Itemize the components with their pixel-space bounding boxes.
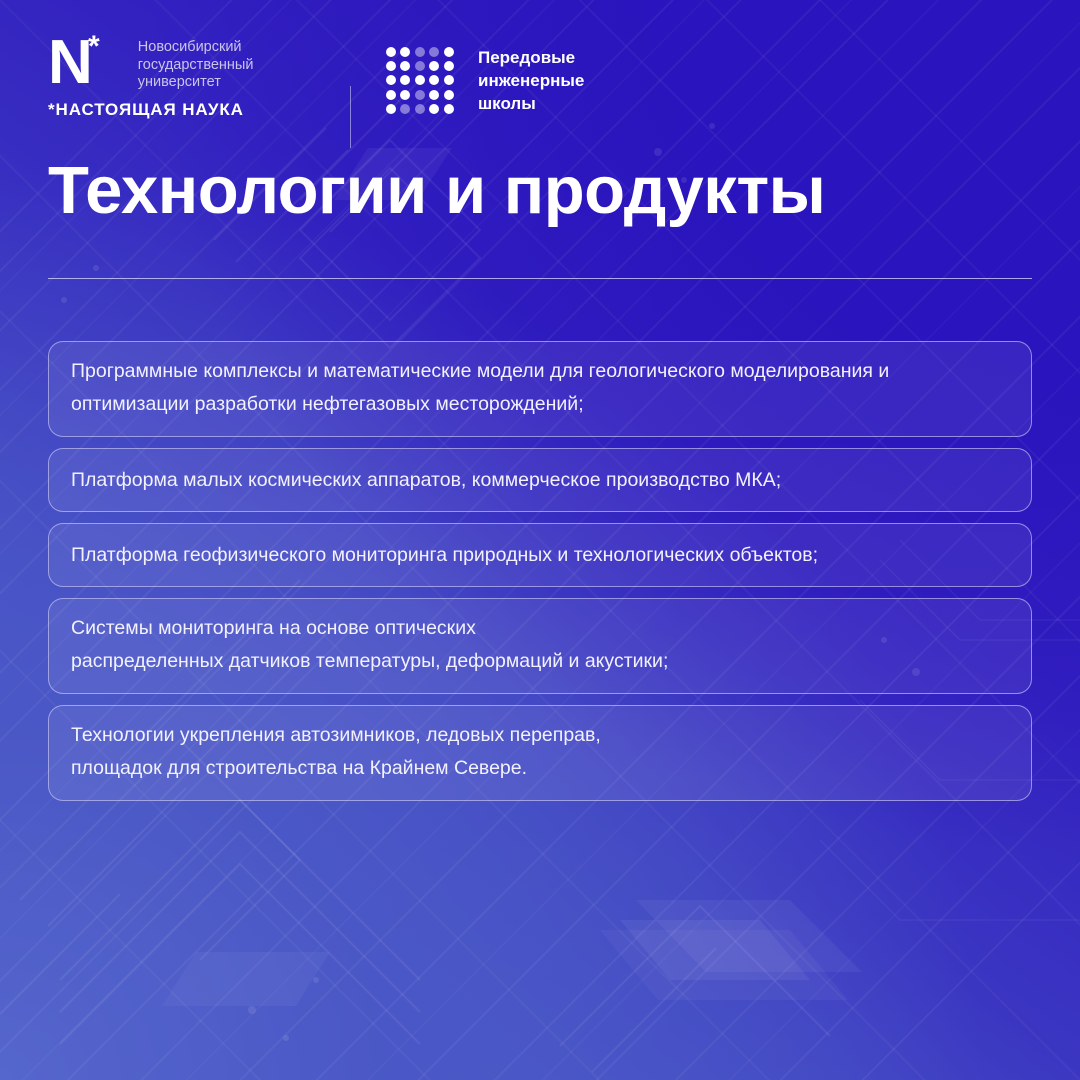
header: N * Новосибирский государственный универ…	[48, 36, 1032, 122]
nsu-letter-n: N	[48, 28, 92, 97]
list-item[interactable]: Системы мониторинга на основе оптических…	[48, 598, 1032, 694]
nsu-name-line-2: государственный	[138, 57, 254, 75]
nsu-name-line-3: университет	[138, 74, 254, 92]
page-title: Технологии и продукты	[48, 152, 1048, 230]
pish-logo[interactable]: Передовые инженерные школы	[386, 46, 584, 115]
list-item[interactable]: Платформа малых космических аппаратов, к…	[48, 448, 1032, 512]
nsu-logo-mark: N *	[48, 36, 92, 90]
list-item-line: Платформа малых космических аппаратов, к…	[71, 464, 1009, 497]
nsu-logo[interactable]: N * Новосибирский государственный универ…	[48, 36, 253, 92]
list-item-line: Системы мониторинга на основе оптических	[71, 612, 1009, 645]
list-item-line: Технологии укрепления автозимников, ледо…	[71, 719, 1009, 752]
list-item-line: оптимизации разработки нефтегазовых мест…	[71, 388, 1009, 421]
list-item-line: площадок для строительства на Крайнем Се…	[71, 752, 1009, 785]
technology-list: Программные комплексы и математические м…	[48, 341, 1032, 812]
pish-name-line-3: школы	[478, 92, 584, 115]
list-item-line: Программные комплексы и математические м…	[71, 355, 1009, 388]
pish-dot-grid-icon	[386, 47, 454, 115]
logo-divider	[350, 86, 351, 148]
list-item[interactable]: Платформа геофизического мониторинга при…	[48, 523, 1032, 587]
list-item-line: распределенных датчиков температуры, деф…	[71, 645, 1009, 678]
title-divider	[48, 278, 1032, 279]
nsu-name-line-1: Новосибирский	[138, 39, 254, 57]
pish-logo-name: Передовые инженерные школы	[478, 46, 584, 115]
list-item[interactable]: Технологии укрепления автозимников, ледо…	[48, 705, 1032, 801]
nsu-slogan: *НАСТОЯЩАЯ НАУКА	[48, 100, 244, 120]
pish-name-line-2: инженерные	[478, 69, 584, 92]
list-item-line: Платформа геофизического мониторинга при…	[71, 539, 1009, 572]
asterisk-icon: *	[88, 32, 99, 62]
pish-name-line-1: Передовые	[478, 46, 584, 69]
nsu-logo-name: Новосибирский государственный университе…	[138, 36, 254, 92]
list-item[interactable]: Программные комплексы и математические м…	[48, 341, 1032, 437]
